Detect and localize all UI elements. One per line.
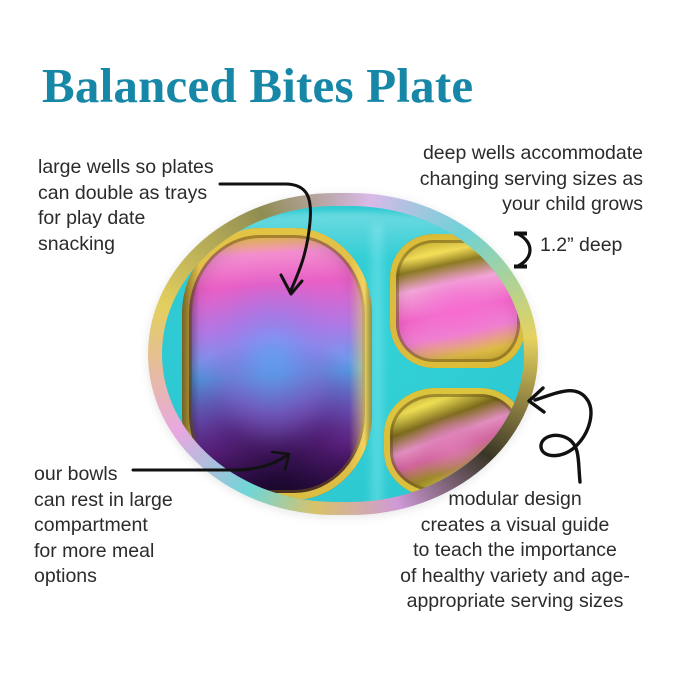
annotation-bottom-left: our bowls can rest in large compartment …	[34, 462, 264, 590]
bottom-right-well-center-glow	[418, 419, 489, 476]
annotation-bottom-right: modular design creates a visual guide to…	[385, 487, 645, 615]
top-right-well-center-glow	[414, 274, 504, 344]
compartment-bottom-right-well	[384, 388, 524, 498]
page-title: Balanced Bites Plate	[42, 57, 473, 114]
large-well-center-glow	[212, 282, 337, 440]
annotation-top-right: deep wells accommodate changing serving …	[353, 141, 643, 218]
depth-measurement-label: 1.2” deep	[540, 234, 622, 257]
arrow-bottom-right-loop	[529, 388, 591, 482]
compartment-large-well	[182, 228, 372, 500]
annotation-top-left: large wells so plates can double as tray…	[38, 155, 288, 257]
product-infographic: Balanced Bites Plate	[0, 0, 679, 679]
compartment-divider	[368, 224, 386, 502]
compartment-top-right-well	[390, 234, 524, 368]
